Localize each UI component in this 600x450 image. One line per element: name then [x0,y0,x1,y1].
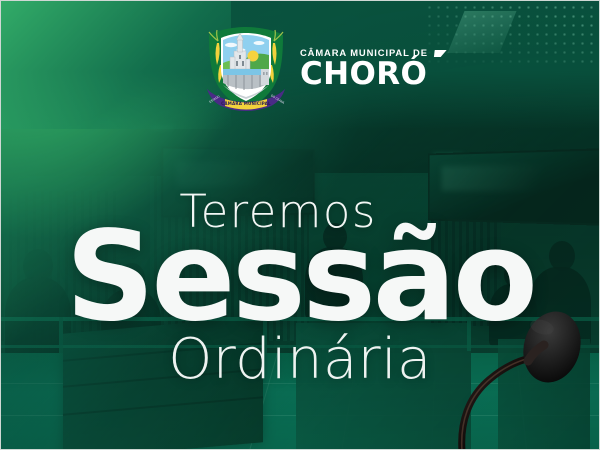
session-announcement-banner: CÂMARA MUNICIPAL ESTADO DO CEARÁ CÂMARA … [0,0,600,450]
choro-coat-of-arms: CÂMARA MUNICIPAL ESTADO DO CEARÁ [201,25,291,111]
top-band-light-gradient [1,1,231,129]
camara-logo: CÂMARA MUNICIPAL ESTADO DO CEARÁ CÂMARA … [201,25,445,111]
gooseneck-microphone [456,301,600,450]
svg-text:CÂMARA MUNICIPAL: CÂMARA MUNICIPAL [221,101,271,106]
flag-accent-icon [431,50,446,57]
city-name: CHORÓ [300,59,445,91]
logo-wordmark: CÂMARA MUNICIPAL DE CHORÓ [300,45,445,90]
dot-grid-pattern [425,3,597,63]
